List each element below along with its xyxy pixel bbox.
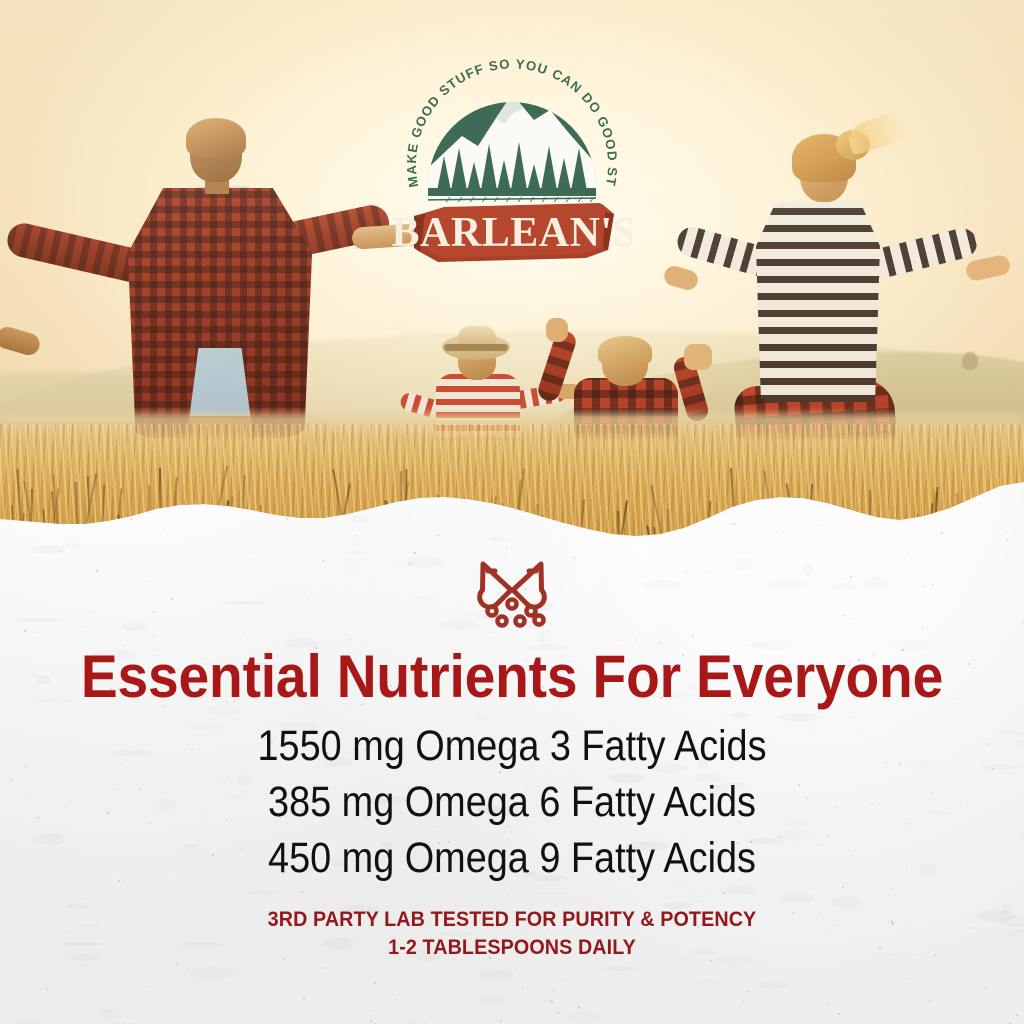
footnote-block: 3RD PARTY LAB TESTED FOR PURITY & POTENC…	[0, 906, 1024, 962]
woman-striped-top	[756, 202, 880, 402]
barleans-logo[interactable]: WE MAKE GOOD STUFF SO YOU CAN DO GOOD ST…	[392, 18, 632, 268]
girl-hat-band	[444, 344, 508, 351]
list-item: 385 mg Omega 6 Fatty Acids	[61, 774, 962, 830]
logo-wordmark: BARLEAN'S	[392, 210, 632, 256]
boy-left-hand	[546, 318, 568, 342]
boy-right-hand	[684, 344, 712, 370]
logo-ribbon: BARLEAN'S	[392, 203, 632, 262]
product-marketing-poster: WE MAKE GOOD STUFF SO YOU CAN DO GOOD ST…	[0, 0, 1024, 1024]
man-hair	[186, 118, 246, 158]
distant-tree-icon	[962, 352, 978, 370]
page-title: Essential Nutrients For Everyone	[41, 642, 983, 711]
footnote-dosage: 1-2 TABLESPOONS DAILY	[31, 934, 994, 962]
list-item: 1550 mg Omega 3 Fatty Acids	[61, 718, 962, 774]
list-item: 450 mg Omega 9 Fatty Acids	[61, 830, 962, 886]
footnote-lab-tested: 3RD PARTY LAB TESTED FOR PURITY & POTENC…	[31, 906, 994, 934]
crossed-capsules-icon	[467, 548, 557, 628]
nutrient-list: 1550 mg Omega 3 Fatty Acids 385 mg Omega…	[0, 718, 1024, 886]
boy-hair	[598, 336, 652, 366]
